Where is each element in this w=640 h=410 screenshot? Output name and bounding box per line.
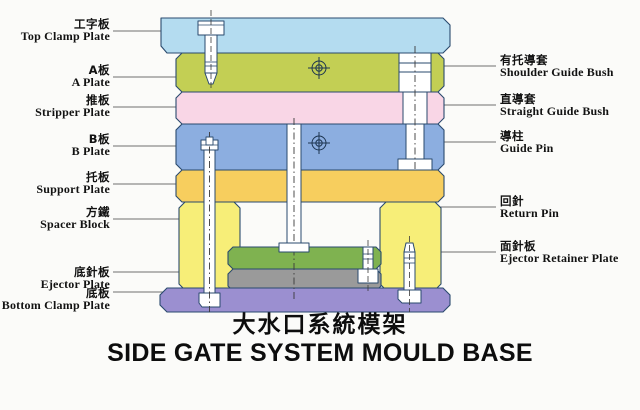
label-a-plate-en: A Plate bbox=[0, 76, 110, 89]
label-bottom-clamp-plate: 底板 Bottom Clamp Plate bbox=[0, 287, 110, 312]
label-stripper-plate: 推板 Stripper Plate bbox=[0, 94, 110, 119]
ejector-sleeve-foot bbox=[279, 243, 309, 252]
label-guide-pin-en: Guide Pin bbox=[500, 142, 640, 155]
label-straight-guide-bush-en: Straight Guide Bush bbox=[500, 105, 640, 118]
label-guide-pin: 導柱 Guide Pin bbox=[500, 130, 640, 155]
title-block: 大水口系統模架 SIDE GATE SYSTEM MOULD BASE bbox=[0, 312, 640, 368]
label-shoulder-guide-bush: 有托導套 Shoulder Guide Bush bbox=[500, 54, 640, 79]
label-a-plate: A板 A Plate bbox=[0, 64, 110, 89]
label-top-clamp-plate: 工字板 Top Clamp Plate bbox=[0, 18, 110, 43]
ejector-sleeve bbox=[287, 124, 301, 247]
title-english: SIDE GATE SYSTEM MOULD BASE bbox=[0, 339, 640, 368]
label-stripper-plate-en: Stripper Plate bbox=[0, 106, 110, 119]
label-return-pin: 回針 Return Pin bbox=[500, 195, 640, 220]
label-support-plate: 托板 Support Plate bbox=[0, 171, 110, 196]
label-spacer-block-en: Spacer Block bbox=[0, 218, 110, 231]
label-b-plate-en: B Plate bbox=[0, 145, 110, 158]
label-shoulder-guide-bush-en: Shoulder Guide Bush bbox=[500, 66, 640, 79]
diagram-canvas: 工字板 Top Clamp Plate A板 A Plate 推板 Stripp… bbox=[0, 0, 640, 410]
label-bottom-clamp-plate-en: Bottom Clamp Plate bbox=[0, 299, 110, 312]
label-spacer-block: 方鐵 Spacer Block bbox=[0, 206, 110, 231]
label-return-pin-en: Return Pin bbox=[500, 207, 640, 220]
b-plate-pin-shaft bbox=[206, 137, 213, 145]
label-ejector-retainer-plate-en: Ejector Retainer Plate bbox=[500, 252, 640, 265]
title-chinese: 大水口系統模架 bbox=[0, 312, 640, 338]
label-ejector-retainer-plate: 面針板 Ejector Retainer Plate bbox=[500, 240, 640, 265]
plate-support bbox=[176, 170, 444, 202]
label-b-plate: B板 B Plate bbox=[0, 133, 110, 158]
label-support-plate-en: Support Plate bbox=[0, 183, 110, 196]
label-straight-guide-bush: 直導套 Straight Guide Bush bbox=[500, 93, 640, 118]
label-top-clamp-plate-en: Top Clamp Plate bbox=[0, 30, 110, 43]
